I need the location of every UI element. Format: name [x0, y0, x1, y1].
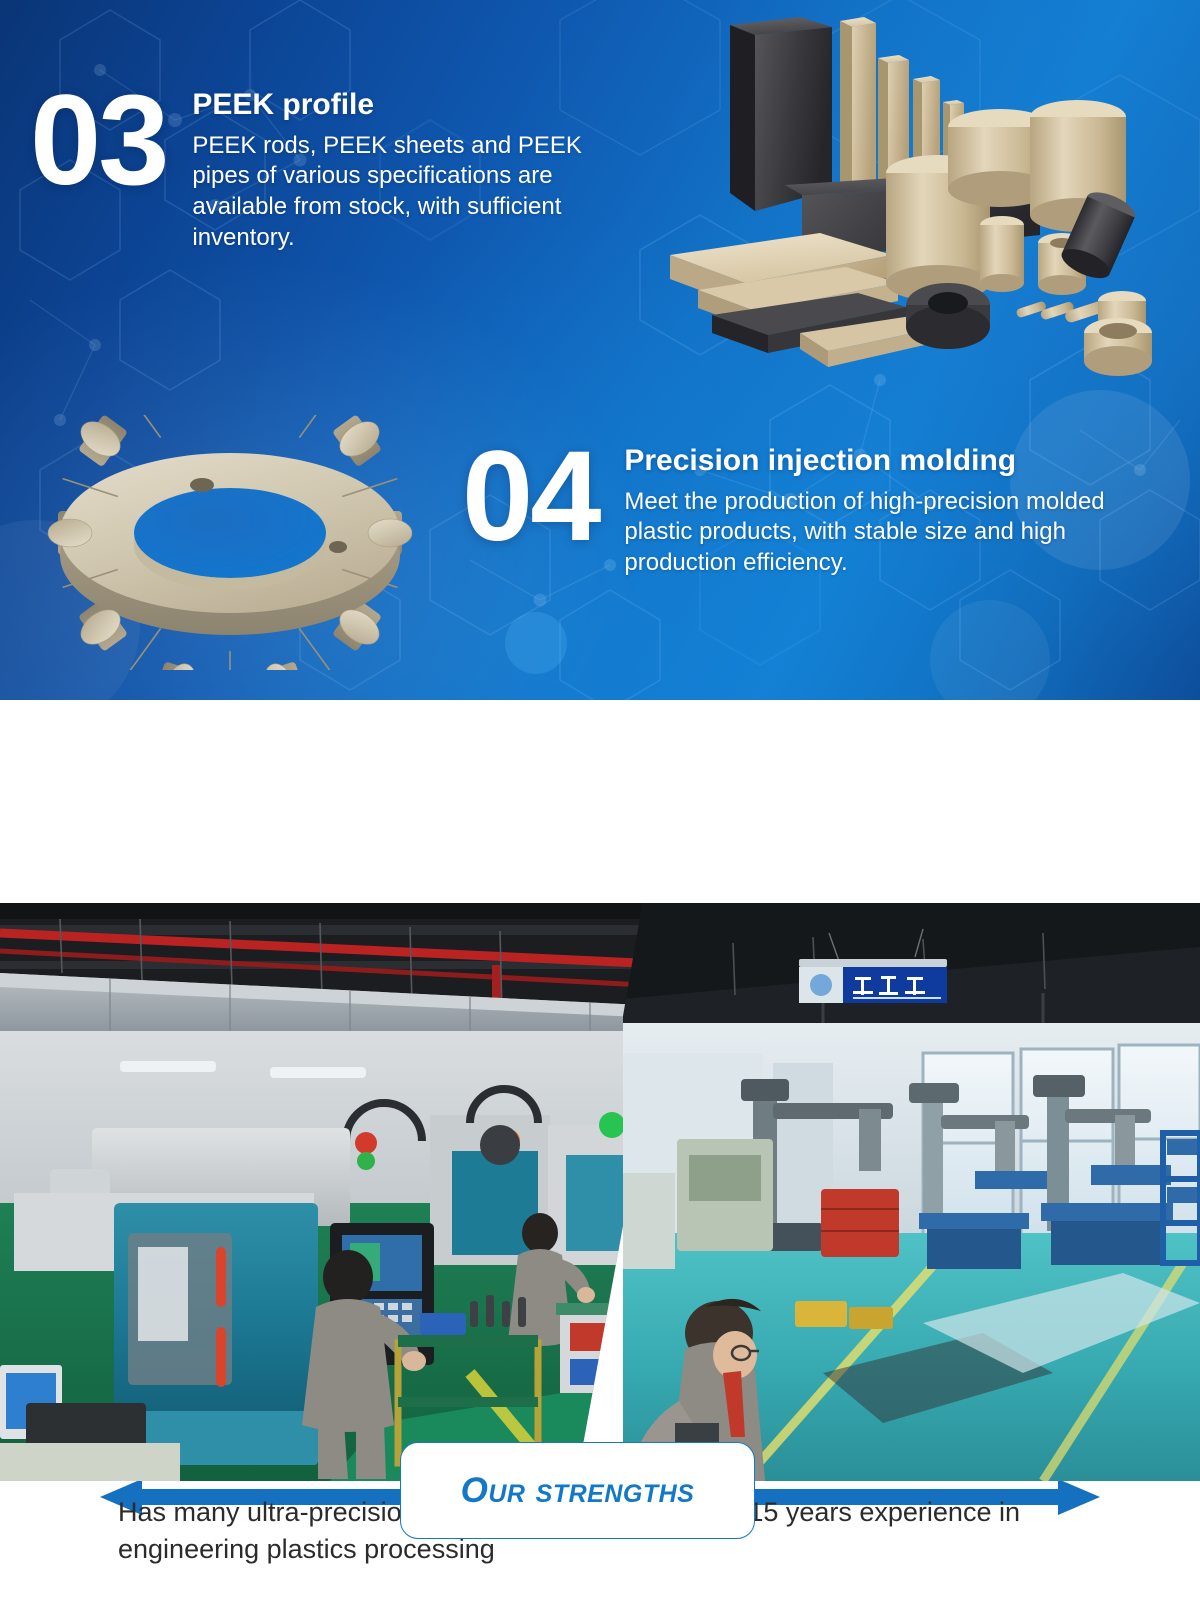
- peek-capabilities-page: 03 PEEK profile PEEK rods, PEEK sheets a…: [0, 0, 1200, 1616]
- feature-body: Meet the production of high-precision mo…: [624, 487, 1124, 579]
- peek-gear-ring-image: [35, 415, 425, 670]
- feature-block-03: 03 PEEK profile PEEK rods, PEEK sheets a…: [30, 82, 622, 253]
- workshop-photo-strip: [0, 903, 1200, 1481]
- feature-title: Precision injection molding: [624, 444, 1124, 478]
- feature-number: 04: [462, 438, 598, 556]
- strengths-band: Our strengths: [0, 700, 1200, 903]
- peek-stock-shapes-image: [650, 15, 1200, 385]
- cnc-workshop-photo: [0, 903, 682, 1481]
- strengths-label-box: Our strengths: [400, 1442, 755, 1539]
- strengths-label: Our strengths: [461, 1471, 695, 1511]
- mold-workshop-photo: [623, 903, 1200, 1481]
- feature-body: PEEK rods, PEEK sheets and PEEK pipes of…: [192, 131, 622, 254]
- feature-block-04: 04 Precision injection molding Meet the …: [462, 438, 1124, 579]
- decor-circle: [505, 612, 567, 674]
- feature-title: PEEK profile: [192, 88, 622, 122]
- feature-number: 03: [30, 82, 166, 200]
- hero-blue-panel: 03 PEEK profile PEEK rods, PEEK sheets a…: [0, 0, 1200, 700]
